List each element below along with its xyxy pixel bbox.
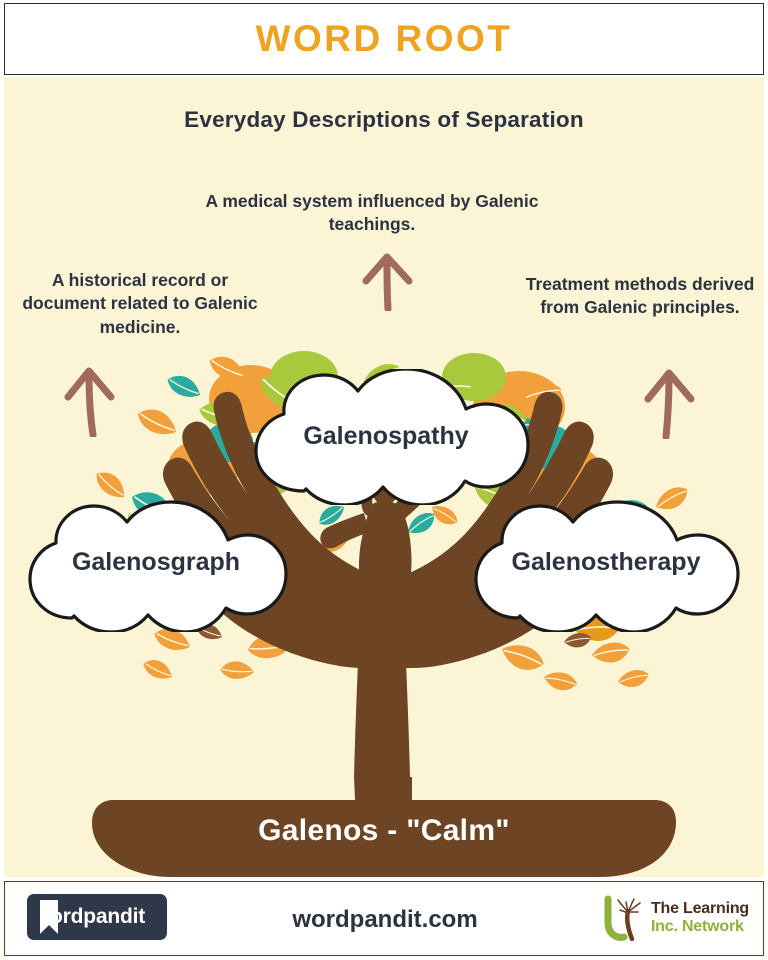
cloud-galenosgraph[interactable]: Galenosgraph [12,500,300,632]
partner-line2: Inc. Network [651,918,749,936]
page-title: WORD ROOT [256,18,513,60]
partner-tree-icon [602,895,644,941]
footer-banner: ordpandit wordpandit.com The Learning In… [4,881,764,956]
cloud-label-right: Galenostherapy [456,548,756,577]
arrow-up-icon [356,249,420,311]
description-top: A medical system influenced by Galenic t… [162,190,582,237]
learning-inc-network-logo[interactable]: The Learning Inc. Network [602,895,749,941]
arrow-up-icon-left [59,361,123,437]
root-word-label: Galenos - "Calm" [4,814,764,848]
infographic-canvas: Everyday Descriptions of Separation [4,77,764,877]
cloud-label-left: Galenosgraph [12,548,300,577]
partner-line1: The Learning [651,900,749,918]
cloud-galenostherapy[interactable]: Galenostherapy [456,500,756,632]
arrow-up-icon-right [636,363,700,439]
description-left: A historical record or document related … [8,269,272,339]
cloud-label-top: Galenospathy [226,422,546,451]
cloud-galenospathy[interactable]: Galenospathy [226,369,546,505]
infographic-page: WORD ROOT Everyday Descriptions of Separ… [0,0,768,960]
partner-name: The Learning Inc. Network [651,900,749,935]
header-banner: WORD ROOT [4,3,764,75]
description-right: Treatment methods derived from Galenic p… [512,273,764,320]
